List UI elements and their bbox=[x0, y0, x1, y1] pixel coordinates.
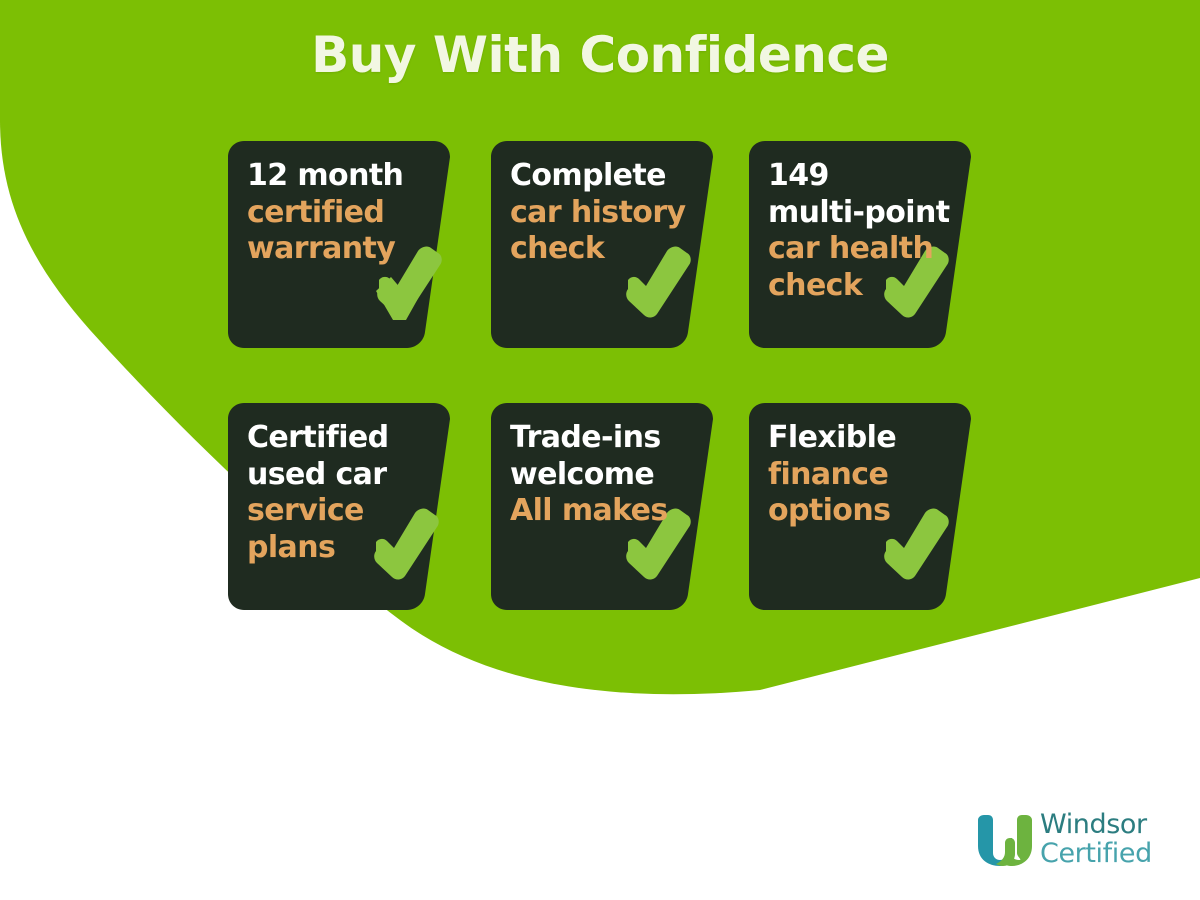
card-text-block: 12 month certified warranty bbox=[247, 158, 433, 268]
card-line: certified bbox=[247, 195, 433, 232]
windsor-w-icon bbox=[974, 810, 1036, 872]
feature-card-149-multi-point-car-health-check[interactable]: 149 multi-point car health check bbox=[749, 141, 971, 348]
logo-word-certified: Certified bbox=[1040, 839, 1152, 868]
card-text-block: 149 multi-point car health check bbox=[768, 158, 954, 304]
card-line: Flexible bbox=[768, 420, 954, 457]
card-line: check bbox=[768, 268, 954, 305]
card-line: car history bbox=[510, 195, 696, 232]
feature-card-12-month-certified-warranty[interactable]: 12 month certified warranty bbox=[228, 141, 450, 348]
card-text-block: Certified used car service plans bbox=[247, 420, 433, 566]
card-line: Certified bbox=[247, 420, 433, 457]
windsor-certified-logo[interactable]: Windsor Certified bbox=[974, 808, 1164, 878]
card-line: warranty bbox=[247, 231, 433, 268]
card-line: service bbox=[247, 493, 433, 530]
card-line: 149 bbox=[768, 158, 954, 195]
page-title: Buy With Confidence bbox=[0, 26, 1200, 84]
logo-word-windsor: Windsor bbox=[1040, 810, 1152, 839]
logo-wordmark: Windsor Certified bbox=[1040, 810, 1152, 868]
card-line: car health bbox=[768, 231, 954, 268]
feature-card-grid: 12 month certified warranty Complete car… bbox=[228, 141, 976, 611]
feature-card-complete-car-history-check[interactable]: Complete car history check bbox=[491, 141, 713, 348]
feature-card-flexible-finance-options[interactable]: Flexible finance options bbox=[749, 403, 971, 610]
card-line: 12 month bbox=[247, 158, 433, 195]
card-line: check bbox=[510, 231, 696, 268]
card-text-block: Trade-ins welcome All makes bbox=[510, 420, 696, 530]
promo-banner: Buy With Confidence 12 month certified w… bbox=[0, 0, 1200, 900]
card-line: All makes bbox=[510, 493, 696, 530]
card-line: used car bbox=[247, 457, 433, 494]
card-line: plans bbox=[247, 530, 433, 567]
card-line: finance bbox=[768, 457, 954, 494]
card-line: Trade-ins bbox=[510, 420, 696, 457]
feature-card-certified-used-car-service-plans[interactable]: Certified used car service plans bbox=[228, 403, 450, 610]
card-line: Complete bbox=[510, 158, 696, 195]
feature-card-trade-ins-welcome-all-makes[interactable]: Trade-ins welcome All makes bbox=[491, 403, 713, 610]
card-line: welcome bbox=[510, 457, 696, 494]
card-line: options bbox=[768, 493, 954, 530]
card-text-block: Flexible finance options bbox=[768, 420, 954, 530]
card-text-block: Complete car history check bbox=[510, 158, 696, 268]
card-line: multi-point bbox=[768, 195, 954, 232]
